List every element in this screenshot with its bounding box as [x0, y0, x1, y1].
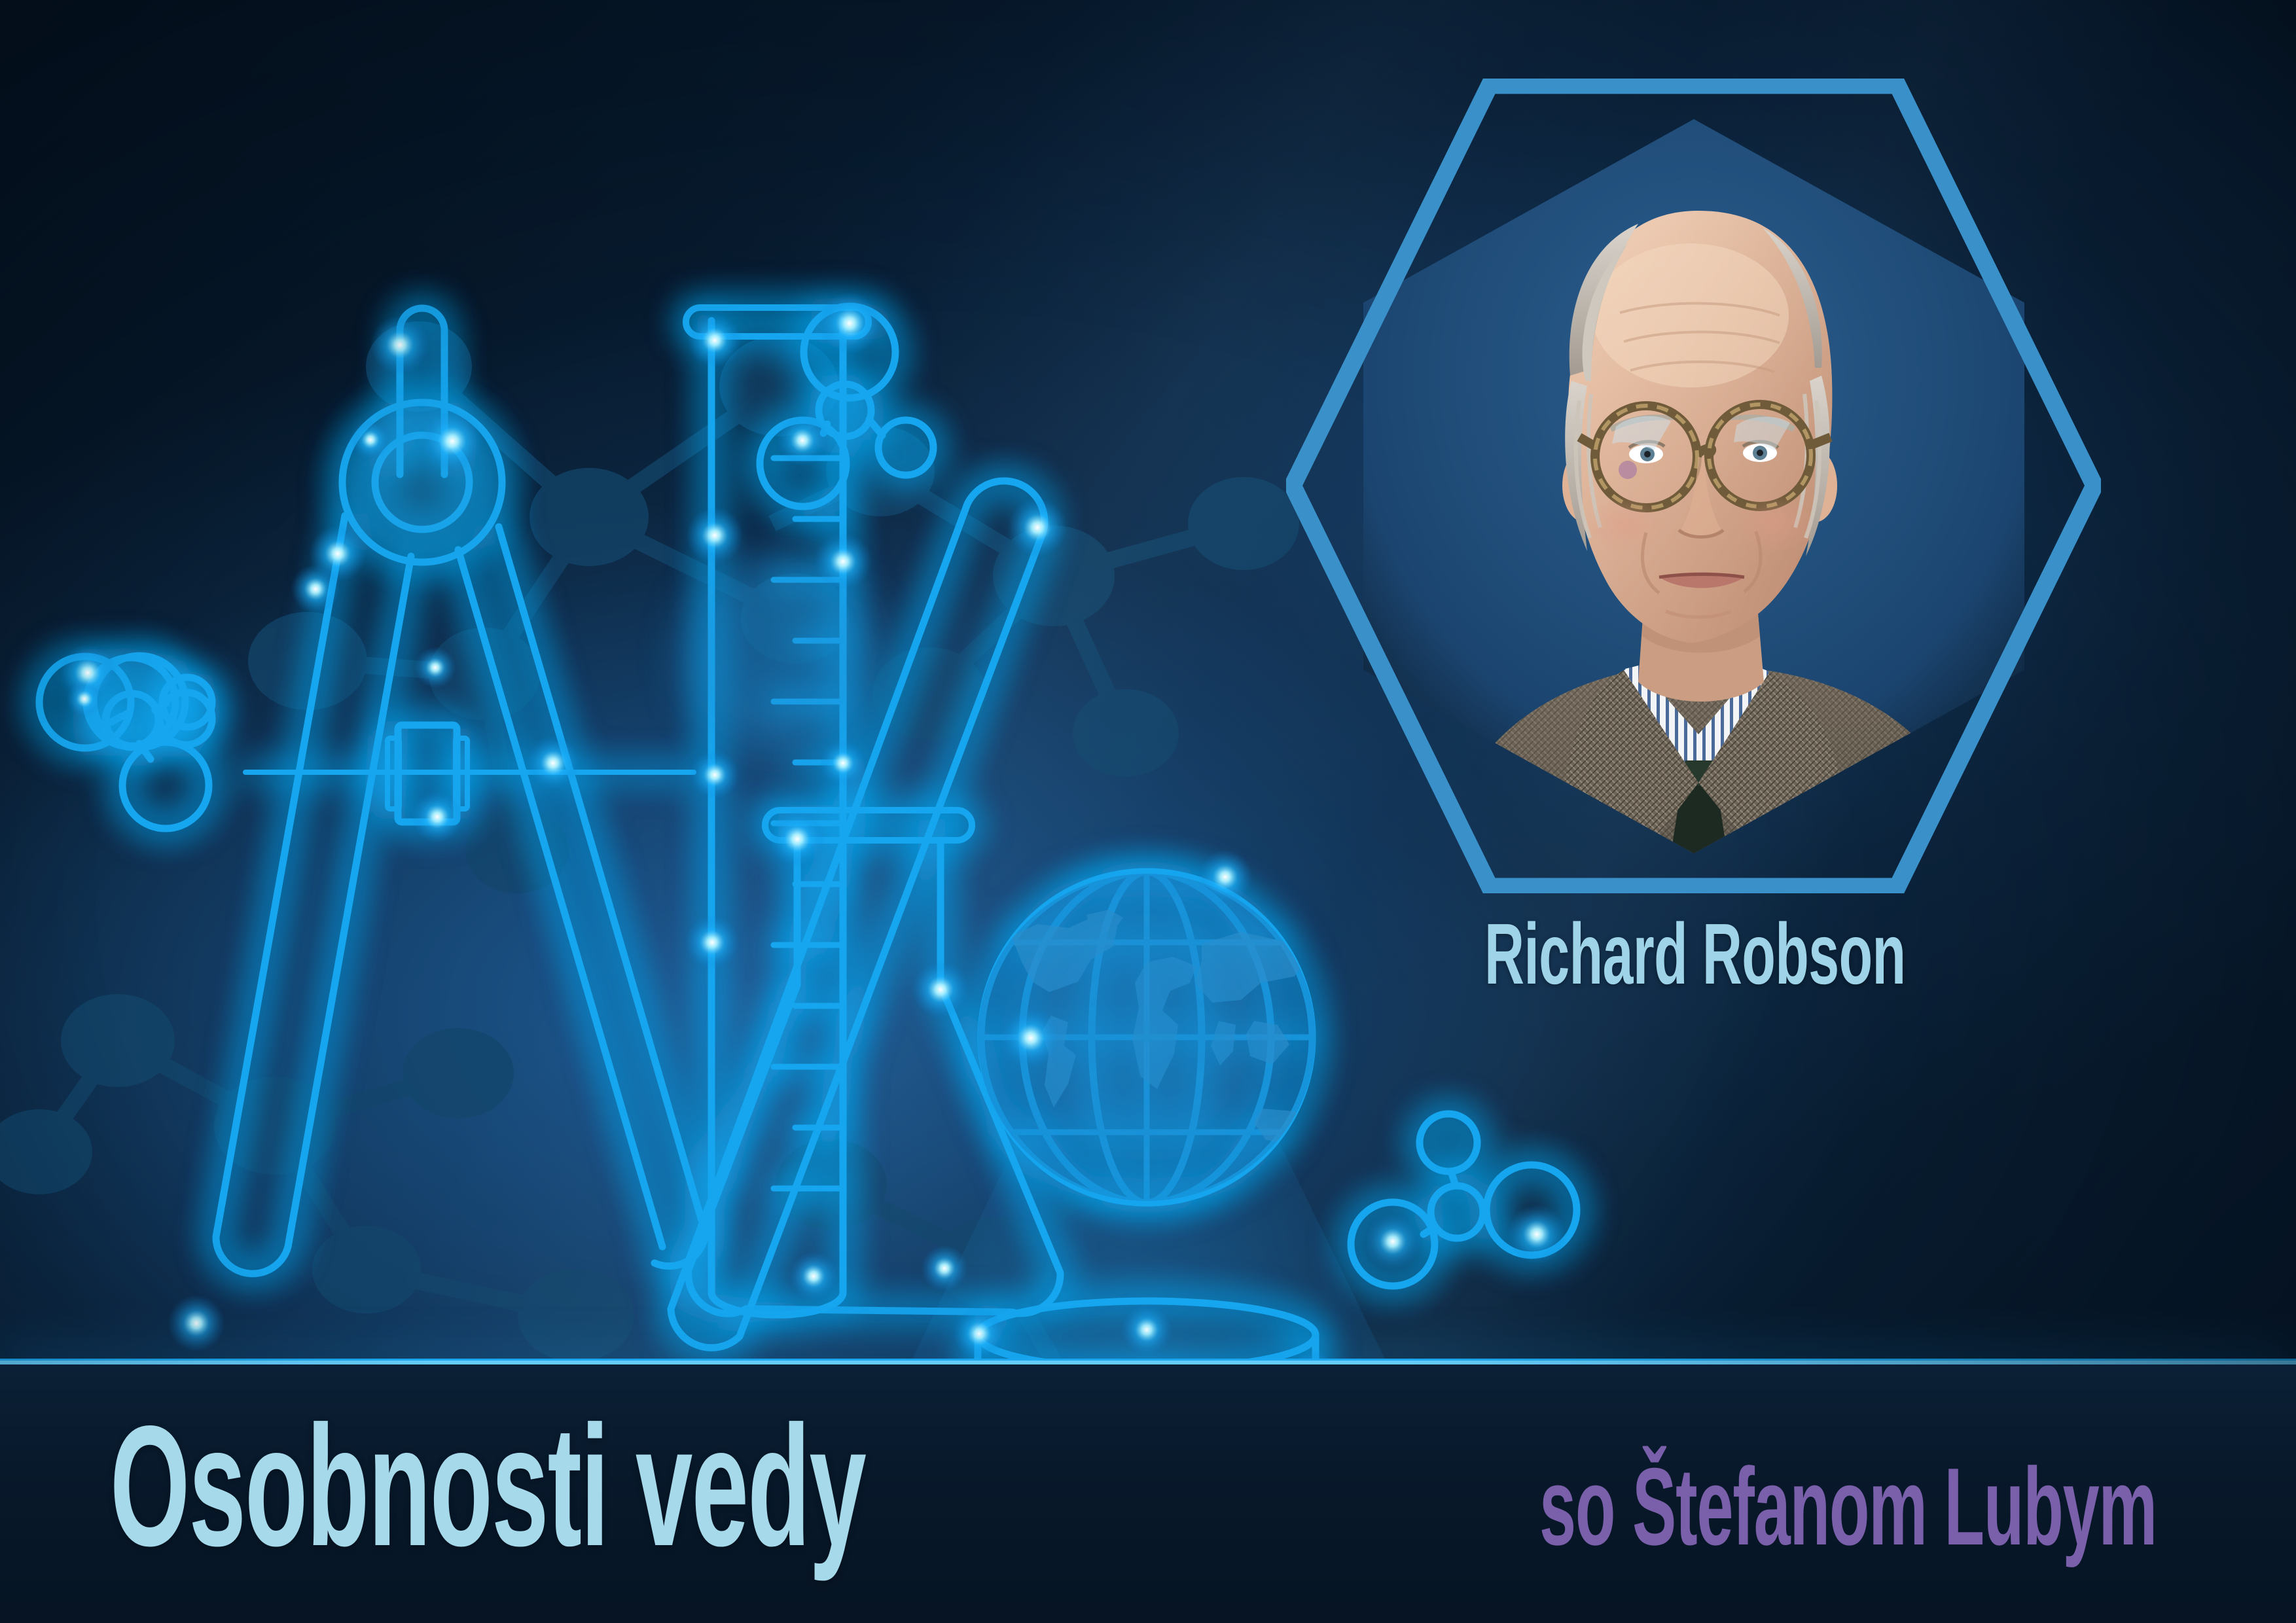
portrait-hexagon [1286, 79, 2101, 893]
page-title: Osobnosti vedy [110, 1400, 865, 1572]
hexagon-frame [1286, 79, 2101, 893]
guest-name: Richard Robson [1484, 911, 1905, 997]
show-subtitle: so Štefanom Lubym [1539, 1452, 2157, 1561]
poster-canvas: Richard Robson Osobnosti vedy so Štefano… [0, 0, 2296, 1623]
